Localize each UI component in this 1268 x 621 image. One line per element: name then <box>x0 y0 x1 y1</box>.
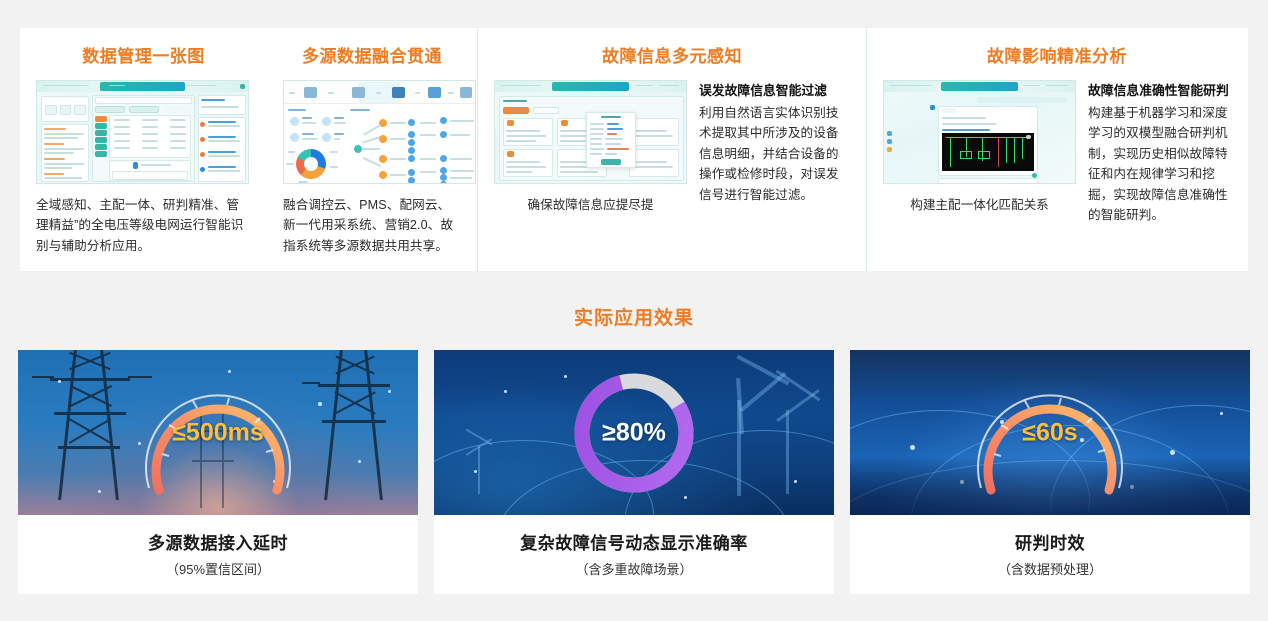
gauge-value: ≤60s <box>1022 418 1077 447</box>
gauge-accuracy: ≥80% <box>569 368 699 498</box>
feature-column-1: 数据管理一张图 <box>20 28 267 271</box>
thumb-caption: 构建主配一体化匹配关系 <box>883 194 1076 213</box>
metric-card-accuracy: ≥80% 复杂故障信号动态显示准确率 （含多重故障场景） <box>434 350 834 594</box>
feature-title: 故障信息多元感知 <box>494 42 850 67</box>
metric-cards-row: ≤500ms 多源数据接入延时 （95%置信区间） <box>18 350 1250 594</box>
feature-description: 融合调控云、PMS、配网云、新一代用采系统、营销2.0、故指系统等多源数据共用共… <box>283 195 461 256</box>
feature-subheading: 误发故障信息智能过滤 <box>699 80 850 99</box>
power-transmission-towers-photo: ≤500ms <box>18 350 418 515</box>
feature-text-block: 误发故障信息智能过滤 利用自然语言实体识别技术提取其中所涉及的设备信息明细，并结… <box>699 80 850 213</box>
feature-title: 数据管理一张图 <box>36 42 251 67</box>
metric-card-latency: ≤500ms 多源数据接入延时 （95%置信区间） <box>18 350 418 594</box>
metric-subtitle: （含数据预处理） <box>858 559 1242 578</box>
thumb-with-caption: 构建主配一体化匹配关系 <box>883 80 1076 225</box>
fault-impact-analysis-screenshot <box>883 80 1076 184</box>
wind-turbines-smart-grid-photo: ≥80% <box>434 350 834 515</box>
gauge-latency: ≤500ms <box>133 370 303 496</box>
city-network-nodes-photo: ≤60s <box>850 350 1250 515</box>
metric-title: 复杂故障信号动态显示准确率 <box>442 529 826 554</box>
feature-title: 多源数据融合贯通 <box>283 42 461 67</box>
multi-source-data-fusion-screenshot <box>283 80 476 184</box>
metric-title: 研判时效 <box>858 529 1242 554</box>
gauge-value: ≤500ms <box>172 418 264 447</box>
section-title: 实际应用效果 <box>0 303 1268 330</box>
page-root: 数据管理一张图 <box>0 0 1268 621</box>
feature-column-2: 多源数据融合贯通 <box>267 28 478 271</box>
feature-subheading: 故障信息准确性智能研判 <box>1088 80 1231 99</box>
feature-column-4: 故障影响精准分析 <box>867 28 1247 271</box>
feature-description: 全域感知、主配一体、研判精准、管理精益”的全电压等级电网运行智能识别与辅助分析应… <box>36 195 251 256</box>
gauge-value: ≥80% <box>602 418 666 447</box>
metric-subtitle: （95%置信区间） <box>26 559 410 578</box>
gauge-response-time: ≤60s <box>965 370 1135 496</box>
feature-title: 故障影响精准分析 <box>883 42 1231 67</box>
thumb-with-caption: 确保故障信息应提尽提 <box>494 80 687 213</box>
fault-info-perception-screenshot <box>494 80 687 184</box>
metric-subtitle: （含多重故障场景） <box>442 559 826 578</box>
metric-title: 多源数据接入延时 <box>26 529 410 554</box>
thumb-caption: 确保故障信息应提尽提 <box>494 194 687 213</box>
feature-description: 利用自然语言实体识别技术提取其中所涉及的设备信息明细，并结合设备的操作或检修时段… <box>699 103 850 205</box>
feature-column-3: 故障信息多元感知 <box>478 28 867 271</box>
data-management-map-screenshot <box>36 80 249 184</box>
features-panel: 数据管理一张图 <box>20 28 1248 271</box>
feature-description: 构建基于机器学习和深度学习的双模型融合研判机制，实现历史相似故障特征和内在规律学… <box>1088 103 1231 225</box>
feature-text-block: 故障信息准确性智能研判 构建基于机器学习和深度学习的双模型融合研判机制，实现历史… <box>1088 80 1231 225</box>
metric-card-response-time: ≤60s 研判时效 （含数据预处理） <box>850 350 1250 594</box>
